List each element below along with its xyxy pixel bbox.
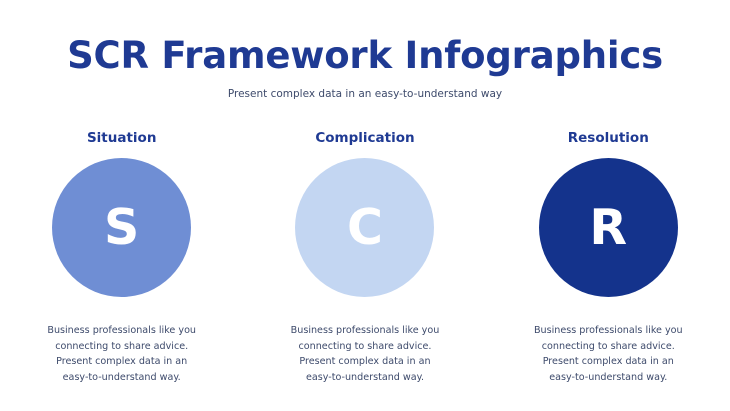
column-resolution: Resolution R Business professionals like… bbox=[487, 130, 730, 385]
circle-letter: R bbox=[589, 203, 627, 252]
column-description: Business professionals like you connecti… bbox=[519, 323, 697, 385]
column-heading: Complication bbox=[315, 130, 414, 146]
column-heading: Resolution bbox=[568, 130, 649, 146]
column-heading: Situation bbox=[87, 130, 157, 146]
circle-resolution[interactable]: R bbox=[539, 158, 678, 297]
circle-situation[interactable]: S bbox=[52, 158, 191, 297]
column-description: Business professionals like you connecti… bbox=[33, 323, 211, 385]
column-description: Business professionals like you connecti… bbox=[276, 323, 454, 385]
page-subtitle: Present complex data in an easy-to-under… bbox=[0, 88, 730, 100]
page-title: SCR Framework Infographics bbox=[0, 34, 730, 77]
circle-letter: S bbox=[104, 203, 139, 252]
scr-columns: Situation S Business professionals like … bbox=[0, 130, 730, 385]
column-complication: Complication C Business professionals li… bbox=[243, 130, 486, 385]
circle-letter: C bbox=[347, 203, 383, 252]
column-situation: Situation S Business professionals like … bbox=[0, 130, 243, 385]
slide-canvas: SCR Framework Infographics Present compl… bbox=[0, 0, 730, 411]
circle-complication[interactable]: C bbox=[295, 158, 434, 297]
